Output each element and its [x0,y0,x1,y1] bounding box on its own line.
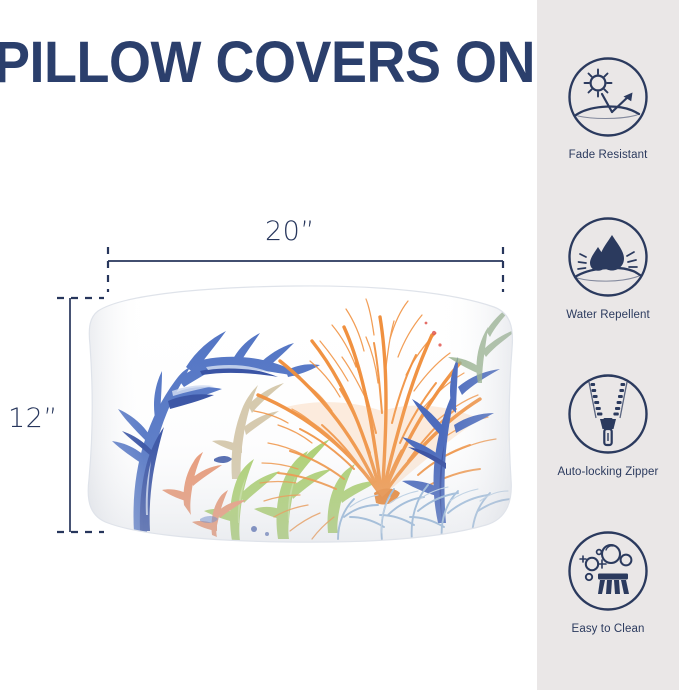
water-droplet-repel-icon [567,216,649,298]
feature-fade-resistant: Fade Resistant [537,56,679,163]
product-image [82,283,522,545]
feature-label: Fade Resistant [537,149,679,163]
page-title: PILLOW COVERS ONLY [0,33,515,93]
height-dimension-label: 12” [8,403,58,434]
feature-auto-locking-zipper: Auto-locking Zipper [537,373,679,480]
feature-label: Auto-locking Zipper [537,466,679,480]
feature-label: Water Repellent [537,309,679,323]
feature-easy-to-clean: Easy to Clean [537,530,679,637]
brush-bubbles-icon [567,530,649,612]
feature-panel: Fade Resistant [537,0,679,690]
product-infographic: PILLOW COVERS ONLY [0,0,679,690]
feature-label: Easy to Clean [537,623,679,637]
zipper-icon [567,373,649,455]
width-dimension-label: 20” [265,216,315,247]
feature-water-repellent: Water Repellent [537,216,679,323]
sun-reflect-icon [567,56,649,138]
